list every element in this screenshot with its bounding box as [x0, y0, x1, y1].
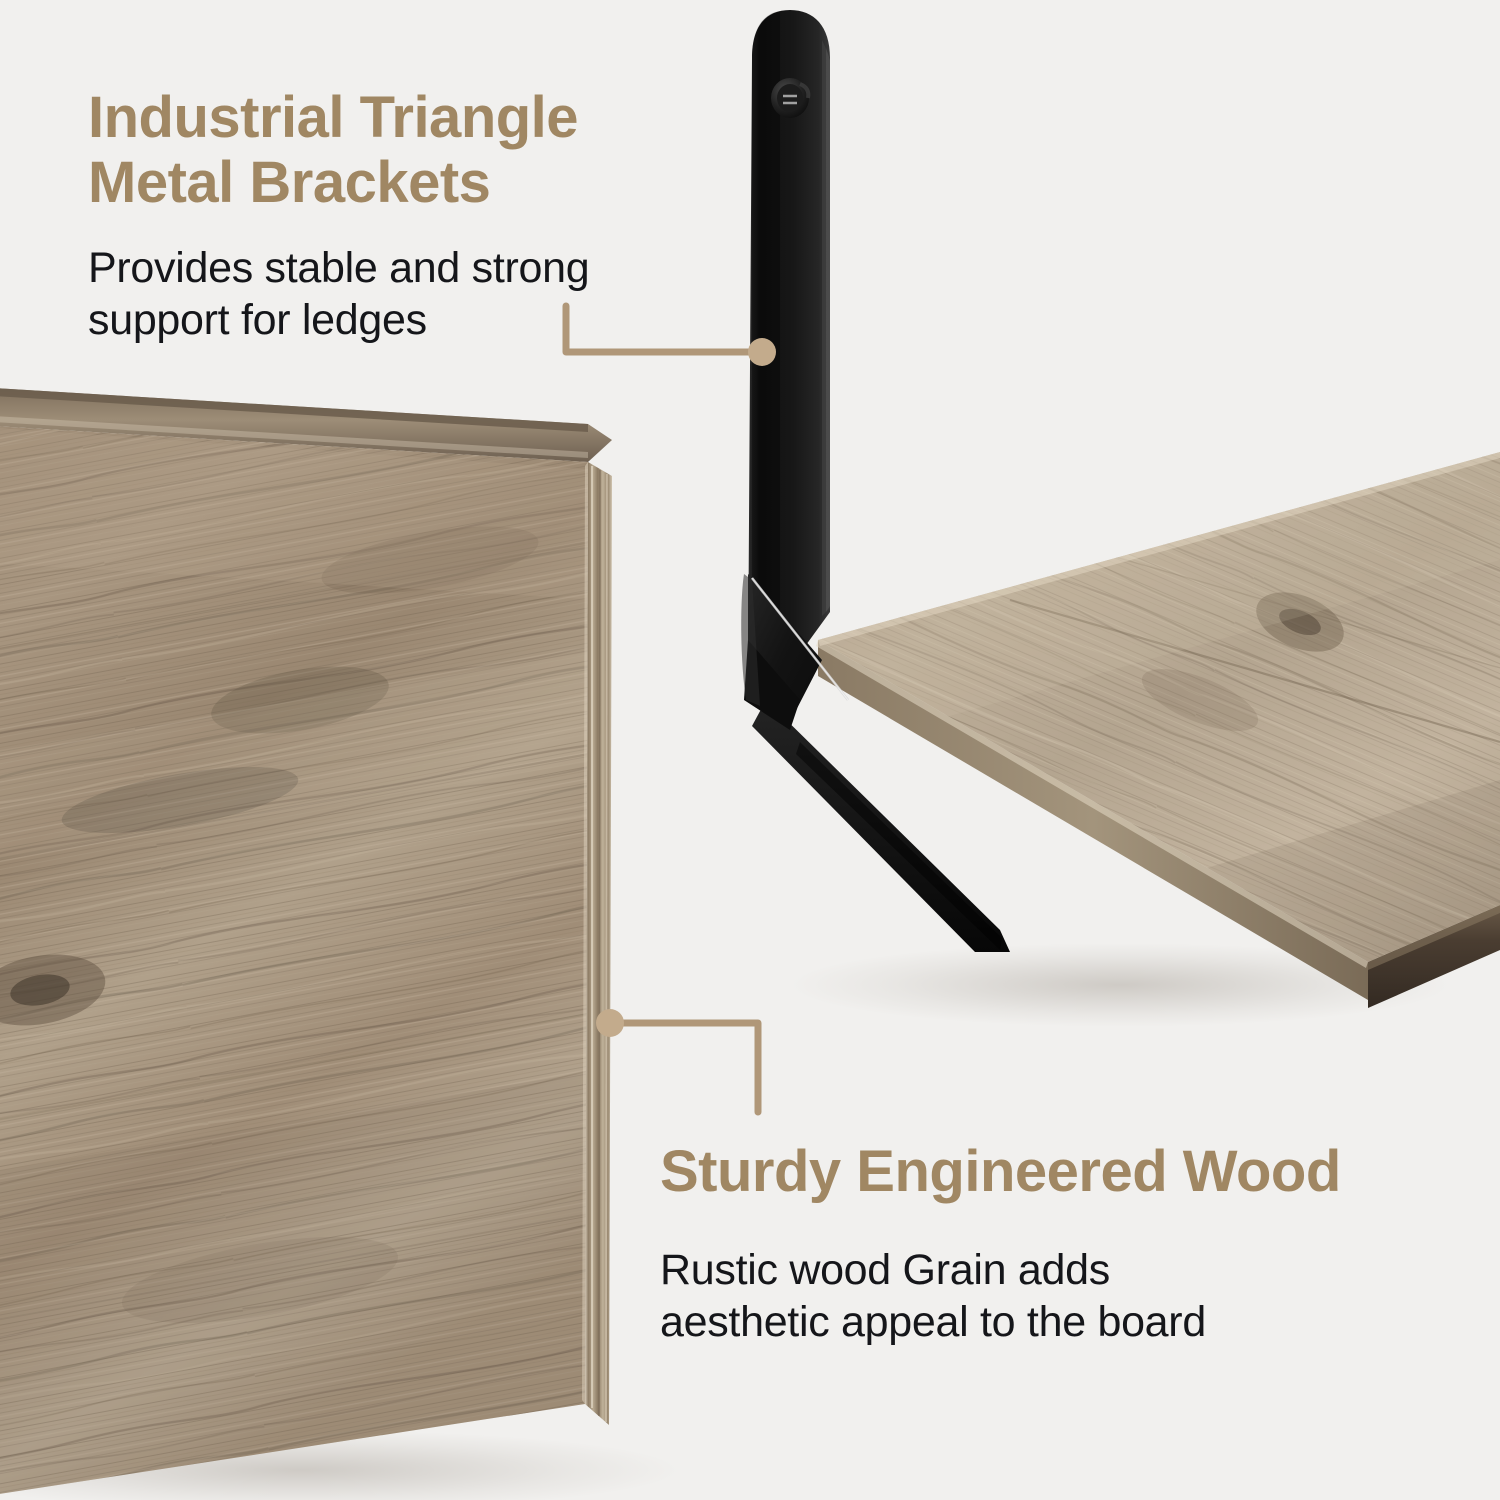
mounting-screw — [771, 78, 809, 118]
callout-brackets-headline: Industrial Triangle Metal Brackets — [88, 86, 578, 216]
callout-connector-wood — [590, 1000, 790, 1135]
callout-wood-headline: Sturdy Engineered Wood — [660, 1140, 1341, 1205]
callout-brackets-body: Provides stable and strong support for l… — [88, 242, 589, 347]
wood-shelf-board-left — [0, 386, 640, 1500]
product-feature-image: Industrial Triangle Metal Brackets Provi… — [0, 0, 1500, 1500]
connector-endpoint-dot — [748, 338, 776, 366]
connector-endpoint-dot — [596, 1009, 624, 1037]
callout-wood-body: Rustic wood Grain adds aesthetic appeal … — [660, 1244, 1206, 1349]
